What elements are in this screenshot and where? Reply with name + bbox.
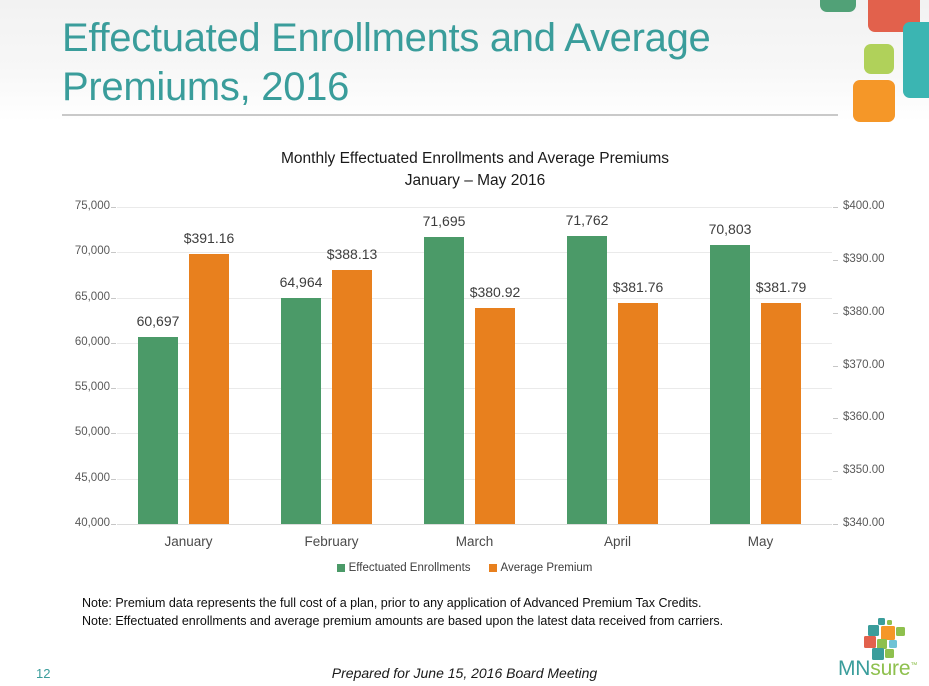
right-axis-tick	[833, 418, 838, 419]
bar-effectuated-enrollments[interactable]	[281, 298, 321, 524]
bar-value-label-premium: $391.16	[149, 230, 269, 246]
logo-sure-text: sure	[870, 657, 910, 680]
right-axis-tick-label: $380.00	[843, 307, 923, 319]
bar-value-label-enrollments: 70,803	[670, 221, 790, 237]
right-axis-tick-label: $350.00	[843, 465, 923, 477]
right-axis-tick	[833, 207, 838, 208]
chart-title: Monthly Effectuated Enrollments and Aver…	[115, 148, 835, 192]
logo-mosaic-square-icon	[868, 625, 879, 636]
left-axis-tick	[111, 252, 116, 253]
left-axis-tick-label: 40,000	[55, 518, 110, 530]
chart-container: Monthly Effectuated Enrollments and Aver…	[0, 122, 929, 590]
left-axis-tick	[111, 479, 116, 480]
prepared-for-text: Prepared for June 15, 2016 Board Meeting	[0, 665, 929, 681]
bar-group: 60,697$391.16	[117, 207, 260, 524]
decorative-square-green-icon	[820, 0, 856, 12]
logo-mosaic-square-icon	[881, 626, 895, 640]
mnsure-logo-mosaic-icon	[856, 618, 910, 660]
bar-group: 70,803$381.79	[689, 207, 832, 524]
right-axis-tick	[833, 313, 838, 314]
logo-mosaic-square-icon	[864, 636, 876, 648]
chart-title-line1: Monthly Effectuated Enrollments and Aver…	[115, 148, 835, 170]
mnsure-logo: MNsure™	[838, 618, 929, 682]
decorative-square-light-green-icon	[864, 44, 894, 74]
chart-legend: Effectuated EnrollmentsAverage Premium	[0, 562, 929, 574]
right-axis-tick	[833, 260, 838, 261]
left-axis-tick	[111, 388, 116, 389]
right-axis-tick-label: $400.00	[843, 201, 923, 213]
left-axis-tick-label: 55,000	[55, 382, 110, 394]
legend-item[interactable]: Effectuated Enrollments	[337, 562, 471, 574]
footnote-enrollment-data: Note: Effectuated enrollments and averag…	[82, 613, 822, 631]
left-axis-tick-label: 45,000	[55, 473, 110, 485]
right-axis-tick-label: $370.00	[843, 360, 923, 372]
right-axis-tick-label: $340.00	[843, 518, 923, 530]
logo-trademark-icon: ™	[910, 662, 917, 669]
left-axis-tick	[111, 433, 116, 434]
right-axis-tick	[833, 524, 838, 525]
bar-group: 71,762$381.76	[546, 207, 689, 524]
bar-effectuated-enrollments[interactable]	[424, 237, 464, 524]
legend-item[interactable]: Average Premium	[489, 562, 593, 574]
x-axis-category-label: April	[548, 534, 688, 549]
plot-area: 60,697$391.1664,964$388.1371,695$380.927…	[117, 207, 832, 524]
left-axis-tick-label: 50,000	[55, 427, 110, 439]
left-axis-tick-label: 75,000	[55, 201, 110, 213]
left-axis-tick-label: 60,000	[55, 337, 110, 349]
left-axis-tick	[111, 343, 116, 344]
left-axis-tick	[111, 207, 116, 208]
logo-mosaic-square-icon	[896, 627, 905, 636]
bar-group: 64,964$388.13	[260, 207, 403, 524]
left-axis-tick-label: 65,000	[55, 292, 110, 304]
x-axis-category-label: March	[405, 534, 545, 549]
legend-label: Effectuated Enrollments	[349, 562, 471, 574]
legend-label: Average Premium	[501, 562, 593, 574]
legend-swatch-icon	[489, 564, 497, 572]
logo-mn-text: MN	[838, 657, 870, 680]
mnsure-wordmark: MNsure™	[838, 658, 929, 679]
gridline	[117, 524, 832, 525]
bar-average-premium[interactable]	[761, 303, 801, 524]
x-axis-category-label: January	[119, 534, 259, 549]
right-axis-tick-label: $390.00	[843, 254, 923, 266]
bar-average-premium[interactable]	[618, 303, 658, 524]
logo-mosaic-square-icon	[878, 618, 885, 625]
title-divider	[62, 114, 838, 116]
bar-value-label-premium: $381.79	[721, 279, 841, 295]
bar-group: 71,695$380.92	[403, 207, 546, 524]
right-axis-tick	[833, 471, 838, 472]
left-axis-tick-label: 70,000	[55, 246, 110, 258]
footnotes: Note: Premium data represents the full c…	[82, 595, 822, 630]
bar-value-label-enrollments: 71,695	[384, 213, 504, 229]
decorative-square-orange-icon	[853, 80, 895, 122]
bar-average-premium[interactable]	[332, 270, 372, 524]
x-axis-category-label: February	[262, 534, 402, 549]
logo-mosaic-square-icon	[889, 640, 897, 648]
footnote-premium-data: Note: Premium data represents the full c…	[82, 595, 822, 613]
decorative-square-teal-icon	[903, 22, 929, 98]
page-title: Effectuated Enrollments and Average Prem…	[62, 14, 822, 112]
left-axis-tick	[111, 524, 116, 525]
right-axis-tick	[833, 366, 838, 367]
logo-mosaic-square-icon	[887, 620, 892, 625]
bar-average-premium[interactable]	[475, 308, 515, 524]
bar-average-premium[interactable]	[189, 254, 229, 524]
bar-value-label-premium: $388.13	[292, 246, 412, 262]
chart-title-line2: January – May 2016	[115, 170, 835, 192]
x-axis-category-label: May	[691, 534, 831, 549]
bar-value-label-premium: $380.92	[435, 284, 555, 300]
bar-effectuated-enrollments[interactable]	[138, 337, 178, 524]
legend-swatch-icon	[337, 564, 345, 572]
right-axis-tick-label: $360.00	[843, 412, 923, 424]
bar-value-label-enrollments: 71,762	[527, 212, 647, 228]
bar-value-label-premium: $381.76	[578, 279, 698, 295]
left-axis-tick	[111, 298, 116, 299]
